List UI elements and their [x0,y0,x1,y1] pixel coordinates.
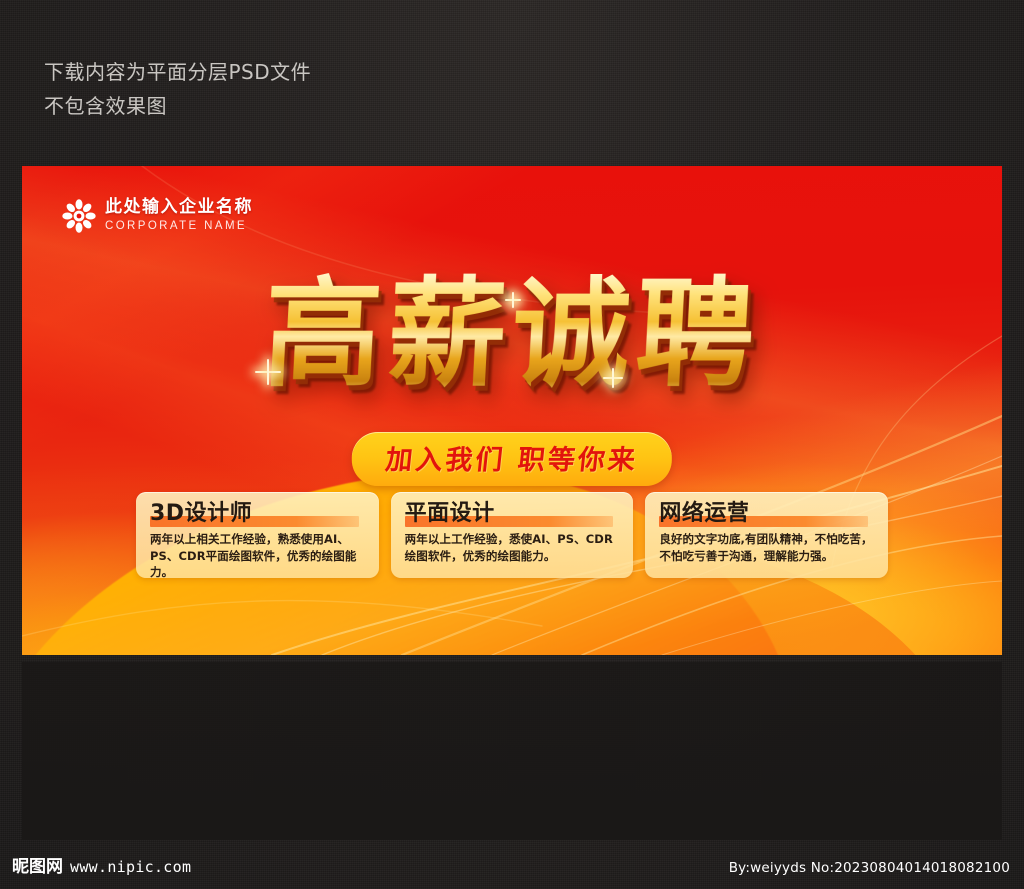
banner-reflection: 两年以上相关工作经验，熟悉使用AI、PS、CDR平面绘图软件，优秀的绘图能力。 … [22,662,1002,840]
job-card-list: 3D设计师 两年以上相关工作经验，熟悉使用AI、PS、CDR平面绘图软件，优秀的… [136,492,888,578]
job-title-wrap: 网络运营 [659,500,876,528]
reflection-fade-mask [22,662,1002,840]
download-note-line-2: 不包含效果图 [44,89,311,123]
company-name-en: CORPORATE NAME [105,218,253,234]
download-note: 下载内容为平面分层PSD文件 不包含效果图 [44,55,311,123]
download-note-line-1: 下载内容为平面分层PSD文件 [44,55,311,89]
headline-title: 高薪诚聘 [0,272,1024,396]
flower-icon [62,199,96,233]
company-logo: 此处输入企业名称 CORPORATE NAME [62,198,253,234]
footer-credit: By:weiyyds No:20230804014018082100 [729,860,1010,876]
job-card-graphic-design[interactable]: 平面设计 两年以上工作经验，悉使AI、PS、CDR绘图软件，优秀的绘图能力。 [391,492,634,578]
job-title: 平面设计 [405,501,495,526]
job-title: 网络运营 [659,501,749,526]
site-url: www.nipic.com [70,858,191,876]
job-title: 3D设计师 [150,501,252,526]
job-description: 良好的文字功底,有团队精神，不怕吃苦，不怕吃亏善于沟通，理解能力强。 [659,531,876,564]
job-title-wrap: 3D设计师 [150,500,367,528]
job-title-wrap: 平面设计 [405,500,622,528]
subtitle-text: 加入我们 职等你来 [384,438,641,477]
job-card-3d-designer[interactable]: 3D设计师 两年以上相关工作经验，熟悉使用AI、PS、CDR平面绘图软件，优秀的… [136,492,379,578]
site-brand: 昵图网 [12,852,63,877]
footer-bar: 昵图网 www.nipic.com By:weiyyds No:20230804… [0,843,1024,889]
company-name-cn: 此处输入企业名称 [105,198,253,217]
job-card-network-operations[interactable]: 网络运营 良好的文字功底,有团队精神，不怕吃苦，不怕吃亏善于沟通，理解能力强。 [645,492,888,578]
job-description: 两年以上工作经验，悉使AI、PS、CDR绘图软件，优秀的绘图能力。 [405,531,622,564]
footer-left: 昵图网 www.nipic.com [12,852,191,877]
job-description: 两年以上相关工作经验，熟悉使用AI、PS、CDR平面绘图软件，优秀的绘图能力。 [150,531,367,578]
subtitle-pill: 加入我们 职等你来 [352,432,672,486]
